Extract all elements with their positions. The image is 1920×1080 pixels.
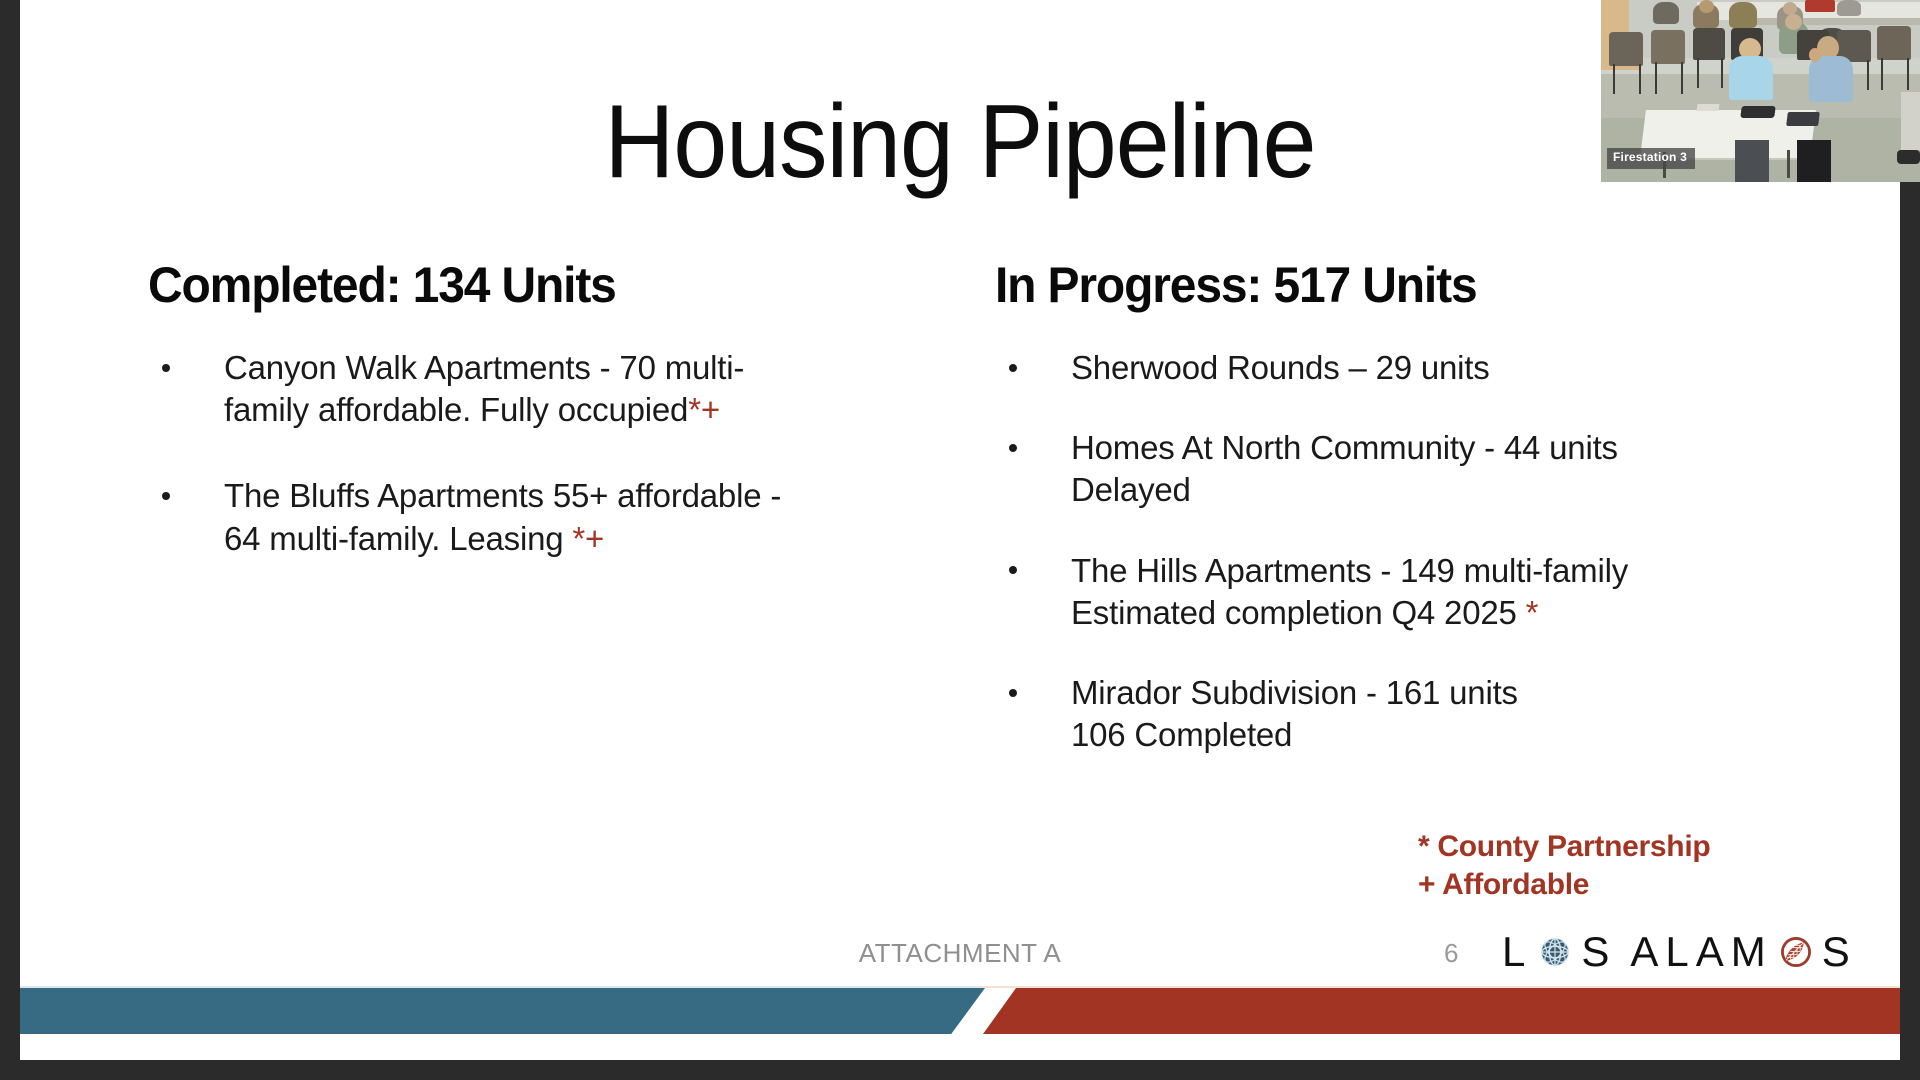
chair-leg (1867, 60, 1869, 90)
logo-letters-alam: ALAM (1630, 931, 1772, 973)
footer-bar-teal (20, 988, 985, 1034)
chair (1877, 26, 1911, 60)
footnote-marker: *+ (572, 520, 604, 557)
los-alamos-logo: L S ALAM (1502, 926, 1857, 978)
legend-line-affordable: + Affordable (1418, 866, 1710, 904)
speaker-hand (1809, 48, 1821, 62)
list-item: Homes At North Community - 44 units Dela… (995, 427, 1785, 511)
bullet-line-2: Delayed (1071, 471, 1191, 508)
bullet-dot-icon (162, 492, 170, 500)
page-title: Housing Pipeline (86, 88, 1834, 197)
bullet-dot-icon (1009, 364, 1017, 372)
column-in-progress: In Progress: 517 Units Sherwood Rounds –… (995, 258, 1785, 795)
bullet-line-2: 106 Completed (1071, 716, 1292, 753)
chair-leg (1907, 58, 1909, 90)
bullet-dot-icon (1009, 689, 1017, 697)
column-completed: Completed: 134 Units Canyon Walk Apartme… (148, 258, 918, 604)
attendee (1837, 0, 1861, 16)
list-item: The Hills Apartments - 149 multi-family … (995, 550, 1785, 634)
bullet-line-1: Canyon Walk Apartments - 70 multi- (224, 349, 744, 386)
chair-leg (1721, 58, 1723, 88)
logo-letter-s2: S (1822, 931, 1857, 973)
speaker-torso (1809, 56, 1853, 102)
footer-bar-red (983, 988, 1900, 1034)
logo-letter-l: L (1502, 931, 1532, 973)
chair-leg (1681, 62, 1683, 94)
list-item: Mirador Subdivision - 161 units 106 Comp… (995, 672, 1785, 756)
footnote-marker: *+ (688, 391, 720, 428)
column-heading-in-progress: In Progress: 517 Units (995, 258, 1753, 313)
webcam-overlay[interactable]: Firestation 3 (1601, 0, 1920, 182)
bullet-dot-icon (1009, 566, 1017, 574)
bullet-line-2: 64 multi-family. Leasing (224, 520, 572, 557)
attendee (1729, 2, 1757, 28)
chair (1651, 30, 1685, 64)
footnote-legend: * County Partnership + Affordable (1418, 828, 1710, 903)
globe-icon (1534, 931, 1576, 973)
column-heading-completed: Completed: 134 Units (148, 258, 887, 313)
attendee-head (1699, 0, 1714, 13)
list-item: The Bluffs Apartments 55+ affordable - 6… (148, 475, 918, 559)
list-item: Sherwood Rounds – 29 units (995, 347, 1785, 389)
bullet-dot-icon (1009, 444, 1017, 452)
bullet-list-completed: Canyon Walk Apartments - 70 multi- famil… (148, 347, 918, 560)
bullet-line-2: Estimated completion Q4 2025 (1071, 594, 1526, 631)
bullet-line-1: The Bluffs Apartments 55+ affordable - (224, 477, 781, 514)
speaker-torso (1729, 56, 1773, 100)
page-number: 6 (1444, 938, 1458, 969)
webcam-location-label: Firestation 3 (1607, 148, 1695, 169)
bullet-line-1: Sherwood Rounds – 29 units (1071, 349, 1490, 386)
red-object-on-table (1805, 0, 1835, 12)
bullet-line-1: Homes At North Community - 44 units (1071, 429, 1618, 466)
bullet-dot-icon (162, 364, 170, 372)
microphone (1740, 106, 1775, 118)
seated-legs (1797, 140, 1831, 182)
bullet-line-1: The Hills Apartments - 149 multi-family (1071, 552, 1628, 589)
video-player-frame: Housing Pipeline Completed: 134 Units Ca… (0, 0, 1920, 1080)
chair-leg (1613, 64, 1615, 94)
chair (1693, 28, 1725, 60)
webcam-video-frame: Firestation 3 (1601, 0, 1920, 182)
attendee (1653, 2, 1679, 24)
logo-letter-s: S (1581, 931, 1616, 973)
attendee-head (1783, 2, 1797, 15)
papers (1697, 104, 1720, 111)
legend-line-county-partnership: * County Partnership (1418, 828, 1710, 866)
table-leg (1787, 150, 1790, 178)
chair (1609, 32, 1643, 66)
bullet-list-in-progress: Sherwood Rounds – 29 units Homes At Nort… (995, 347, 1785, 757)
chair-leg (1881, 58, 1883, 90)
attendee-shoe (1897, 150, 1920, 164)
chair-leg (1639, 64, 1641, 94)
attendee-head (1785, 14, 1802, 30)
list-item: Canyon Walk Apartments - 70 multi- famil… (148, 347, 918, 431)
bullet-line-2: family affordable. Fully occupied (224, 391, 688, 428)
chair-leg (1697, 58, 1699, 88)
footnote-marker: * (1526, 594, 1539, 631)
laptop (1786, 112, 1820, 126)
chair-leg (1655, 62, 1657, 94)
seated-legs (1735, 140, 1769, 182)
footer-hairline (20, 986, 1900, 988)
bullet-line-1: Mirador Subdivision - 161 units (1071, 674, 1518, 711)
attendee (1901, 92, 1920, 150)
leaf-circle-icon (1775, 931, 1817, 973)
